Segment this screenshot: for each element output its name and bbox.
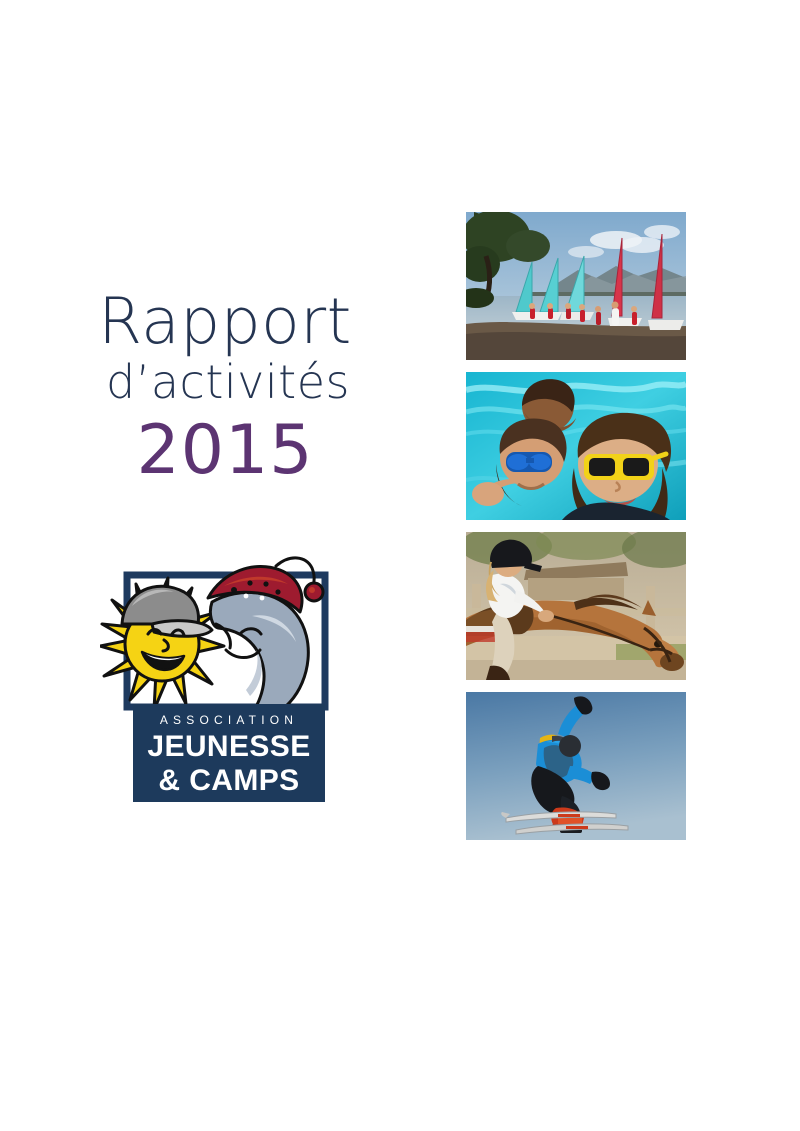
logo-association-word: ASSOCIATION bbox=[160, 713, 298, 727]
logo-association-label: Association bbox=[100, 818, 101, 819]
photo-swimming-pool bbox=[466, 372, 686, 520]
logo-name-line2: & CAMPS bbox=[158, 764, 299, 797]
page-year: 2015 bbox=[0, 417, 440, 485]
cover-title-block: Rapport d’activités 2015 bbox=[0, 290, 440, 485]
logo-jeunesse-label: JEUNESSE bbox=[100, 818, 101, 819]
photo-sailing bbox=[466, 212, 686, 360]
report-cover-page: Rapport d’activités 2015 bbox=[0, 0, 800, 1131]
logo-name-line1: JEUNESSE bbox=[147, 730, 310, 763]
logo-camps-label: & CAMPS bbox=[100, 818, 101, 819]
sun-character-icon bbox=[100, 578, 224, 710]
cover-photo-column bbox=[466, 212, 686, 852]
photo-horse-riding bbox=[466, 532, 686, 680]
moon-character-icon bbox=[208, 558, 323, 721]
association-logo: ASSOCIATION JEUNESSE & CAMPS Association… bbox=[100, 528, 350, 818]
page-title: Rapport bbox=[0, 290, 440, 353]
page-subtitle: d’activités bbox=[0, 359, 440, 405]
photo-skiing bbox=[466, 692, 686, 840]
